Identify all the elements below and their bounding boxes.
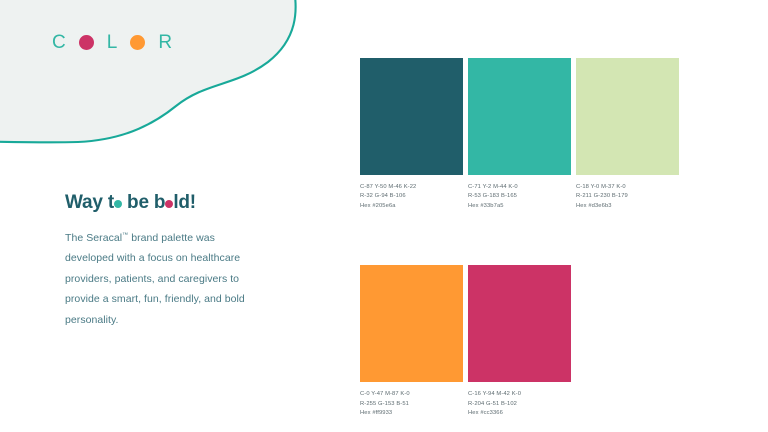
swatch-cmyk: C-71 Y-2 M-44 K-0 [468, 183, 571, 192]
logo-letter-c: C [52, 33, 66, 52]
color-palette: C-87 Y-50 M-46 K-22 R-32 G-94 B-106 Hex … [360, 58, 678, 426]
blob-shape-svg [0, 0, 330, 160]
swatch-cmyk: C-0 Y-47 M-87 K-0 [360, 390, 463, 399]
logo-dot-o-magenta [79, 35, 94, 50]
swatch-meta-teal: C-71 Y-2 M-44 K-0 R-53 G-183 B-165 Hex #… [468, 183, 571, 211]
decorative-blob [0, 0, 330, 160]
swatch-rgb: R-32 G-94 B-106 [360, 192, 463, 201]
palette-row-top: C-87 Y-50 M-46 K-22 R-32 G-94 B-106 Hex … [360, 58, 678, 211]
swatch-deep-teal[interactable]: C-87 Y-50 M-46 K-22 R-32 G-94 B-106 Hex … [360, 58, 463, 211]
swatch-hex: Hex #cc3366 [468, 409, 571, 418]
swatch-hex: Hex #205e6a [360, 202, 463, 211]
swatch-rgb: R-211 G-230 B-179 [576, 192, 679, 201]
logo-letter-l: L [107, 33, 118, 52]
swatch-cmyk: C-18 Y-0 M-37 K-0 [576, 183, 679, 192]
swatch-chip-deep-teal[interactable] [360, 58, 463, 175]
swatch-cmyk: C-87 Y-50 M-46 K-22 [360, 183, 463, 192]
logo-letter-r: R [158, 33, 172, 52]
swatch-rgb: R-204 G-51 B-102 [468, 400, 571, 409]
logo-dot-o-orange [130, 35, 145, 50]
swatch-hex: Hex #33b7a5 [468, 202, 571, 211]
swatch-magenta[interactable]: C-16 Y-94 M-42 K-0 R-204 G-51 B-102 Hex … [468, 265, 571, 418]
swatch-orange[interactable]: C-0 Y-47 M-87 K-0 R-255 G-153 B-51 Hex #… [360, 265, 463, 418]
body-lead: The Seracal [65, 232, 122, 244]
swatch-cmyk: C-16 Y-94 M-42 K-0 [468, 390, 571, 399]
body-paragraph: The Seracal™ brand palette was developed… [65, 228, 245, 330]
headline-segment-3: ld! [173, 192, 196, 213]
swatch-meta-deep-teal: C-87 Y-50 M-46 K-22 R-32 G-94 B-106 Hex … [360, 183, 463, 211]
swatch-meta-magenta: C-16 Y-94 M-42 K-0 R-204 G-51 B-102 Hex … [468, 390, 571, 418]
palette-row-bottom: C-0 Y-47 M-87 K-0 R-255 G-153 B-51 Hex #… [360, 265, 678, 418]
brand-logo: C L R [52, 30, 185, 54]
swatch-hex: Hex #d3e6b3 [576, 202, 679, 211]
headline-segment-1: Way t [65, 192, 114, 213]
swatch-meta-light-green: C-18 Y-0 M-37 K-0 R-211 G-230 B-179 Hex … [576, 183, 679, 211]
swatch-chip-magenta[interactable] [468, 265, 571, 382]
swatch-chip-orange[interactable] [360, 265, 463, 382]
swatch-chip-teal[interactable] [468, 58, 571, 175]
swatch-teal[interactable]: C-71 Y-2 M-44 K-0 R-53 G-183 B-165 Hex #… [468, 58, 571, 211]
headline-segment-2: be b [122, 192, 165, 213]
swatch-rgb: R-255 G-153 B-51 [360, 400, 463, 409]
page-title: Way t be bld! [65, 192, 196, 214]
swatch-chip-light-green[interactable] [576, 58, 679, 175]
swatch-light-green[interactable]: C-18 Y-0 M-37 K-0 R-211 G-230 B-179 Hex … [576, 58, 679, 211]
swatch-hex: Hex #ff9933 [360, 409, 463, 418]
headline-dot-teal [114, 200, 122, 208]
swatch-meta-orange: C-0 Y-47 M-87 K-0 R-255 G-153 B-51 Hex #… [360, 390, 463, 418]
blob-path [0, 0, 296, 142]
swatch-rgb: R-53 G-183 B-165 [468, 192, 571, 201]
palette-row-spacer [360, 219, 678, 265]
body-rest: brand palette was developed with a focus… [65, 232, 245, 326]
